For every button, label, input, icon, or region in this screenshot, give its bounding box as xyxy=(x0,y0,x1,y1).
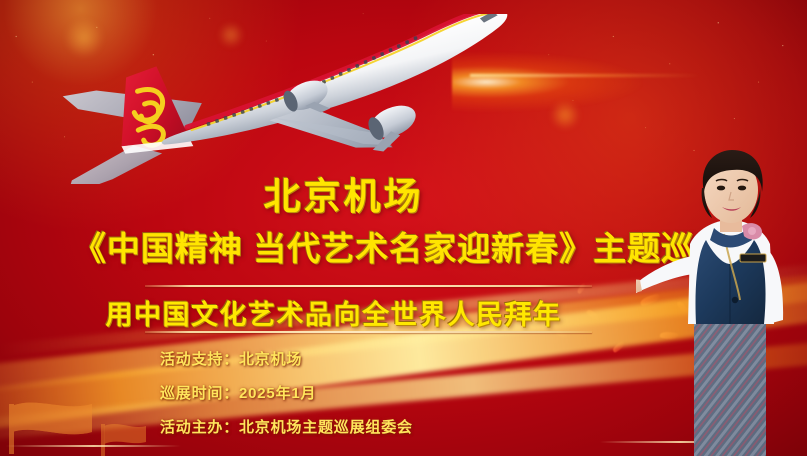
info-line-support: 活动支持：北京机场 xyxy=(160,348,413,369)
divider-line-top xyxy=(145,285,592,287)
event-info-block: 活动支持：北京机场 巡展时间：2025年1月 活动主办：北京机场主题巡展组委会 xyxy=(160,348,413,450)
info-line-organizer: 活动主办：北京机场主题巡展组委会 xyxy=(160,416,413,437)
bottom-accent-line xyxy=(6,445,181,447)
airplane-icon xyxy=(8,14,548,184)
info-line-date: 巡展时间：2025年1月 xyxy=(160,382,413,403)
divider-line-bottom xyxy=(145,331,592,333)
flight-attendant-photo xyxy=(636,148,807,456)
poster-canvas: 北京机场 《中国精神 当代艺术名家迎新春》主题巡展 用中国文化艺术品向全世界人民… xyxy=(0,0,807,456)
